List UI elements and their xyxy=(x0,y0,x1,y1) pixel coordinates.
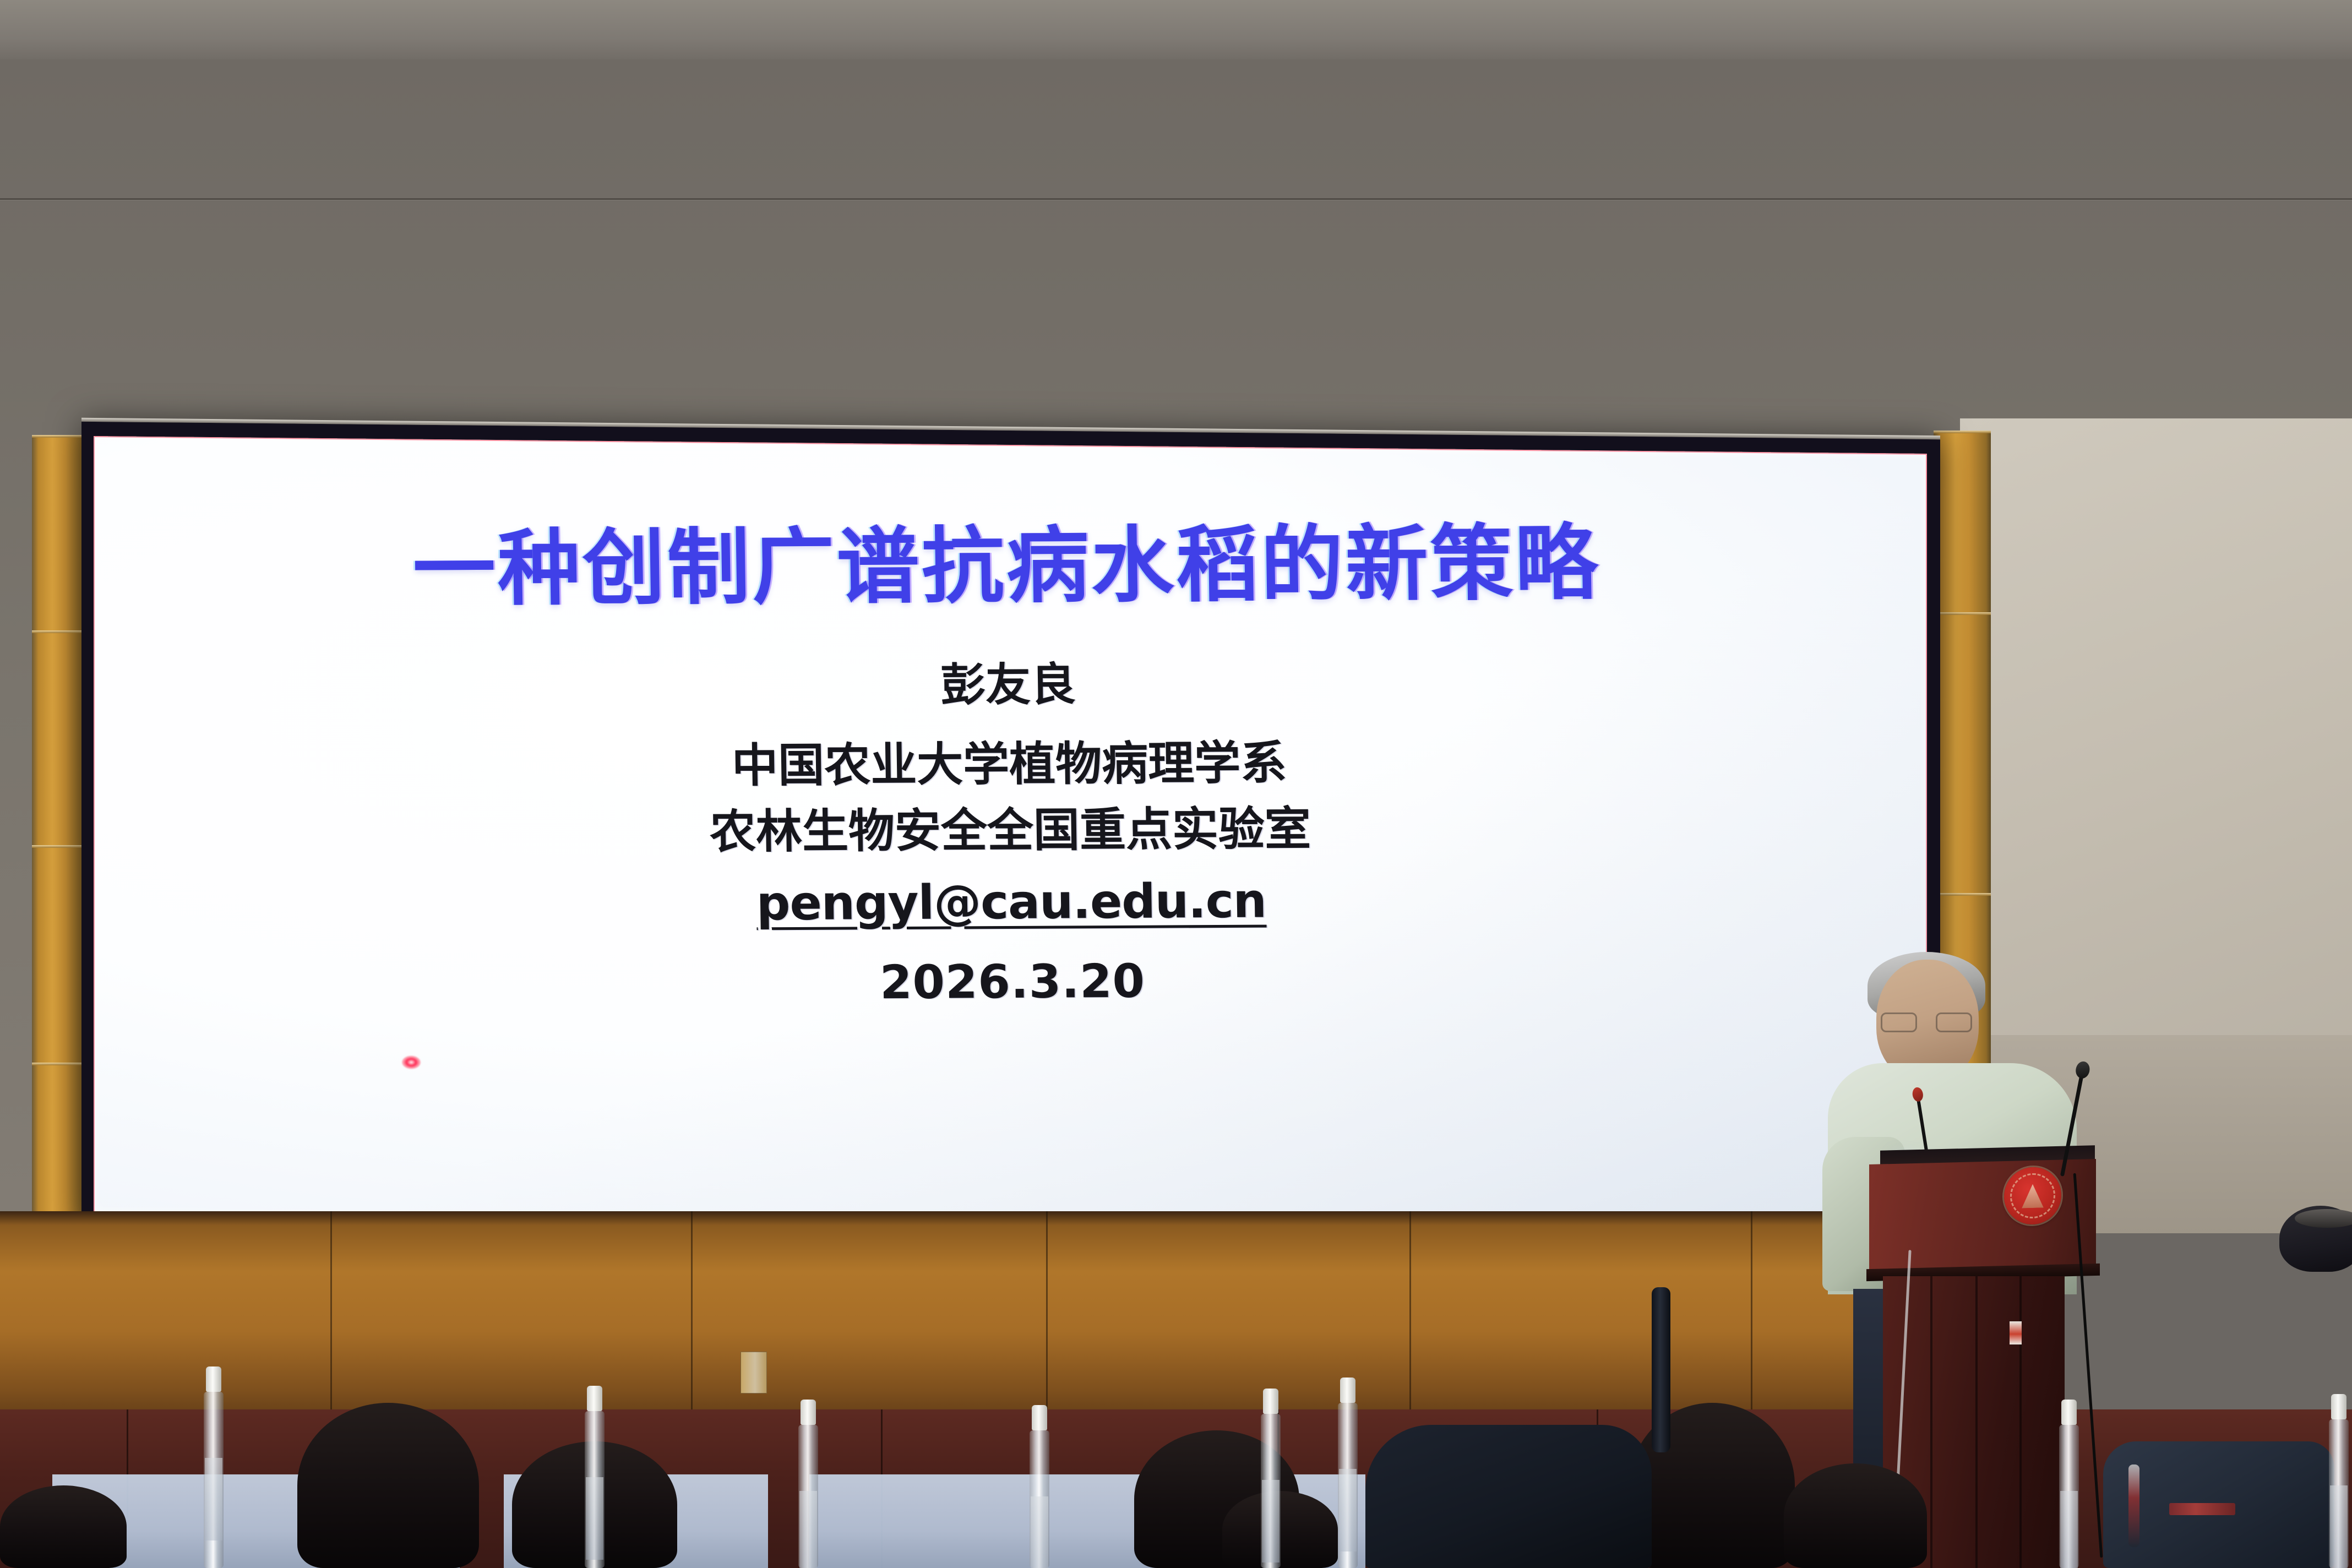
presentation-date: 2026.3.20 xyxy=(879,949,1146,1016)
audience-coat xyxy=(1365,1425,1652,1568)
slide-content: 一种创制广谱抗病水稻的新策略 彭友良 中国农业大学植物病理学系 农林生物安全全国… xyxy=(94,440,1927,1227)
slide-title: 一种创制广谱抗病水稻的新策略 xyxy=(412,520,1600,613)
affiliation-line-2: 农林生物安全全国重点实验室 xyxy=(709,796,1311,865)
audience-head xyxy=(0,1485,127,1568)
water-bottle[interactable] xyxy=(585,1411,605,1568)
water-bottle[interactable] xyxy=(798,1425,818,1568)
presenter-email: pengyl@cau.edu.cn xyxy=(756,868,1267,938)
presenter-name: 彭友良 xyxy=(940,653,1076,718)
laser-pointer-dot xyxy=(402,1055,421,1069)
wall-seam-line xyxy=(0,198,2352,200)
water-bottle[interactable] xyxy=(1030,1430,1049,1568)
decorative-bowl xyxy=(2279,1206,2352,1272)
backpack xyxy=(2103,1441,2334,1568)
projection-screen-frame: 一种创制广谱抗病水稻的新策略 彭友良 中国农业大学植物病理学系 农林生物安全全国… xyxy=(81,422,1940,1244)
water-bottle[interactable] xyxy=(1338,1403,1358,1568)
slide-subtitle-block: 彭友良 中国农业大学植物病理学系 农林生物安全全国重点实验室 pengyl@ca… xyxy=(707,652,1314,1016)
podium-front-panel xyxy=(1869,1159,2096,1275)
audience-head xyxy=(1784,1463,1927,1568)
gold-column-left xyxy=(32,435,86,1233)
projection-screen: 一种创制广谱抗病水稻的新策略 彭友良 中国农业大学植物病理学系 农林生物安全全国… xyxy=(94,436,1927,1231)
podium-sticker xyxy=(2010,1321,2022,1344)
lecture-hall-photo: 一种创制广谱抗病水稻的新策略 彭友良 中国农业大学植物病理学系 农林生物安全全国… xyxy=(0,0,2352,1568)
water-bottle[interactable] xyxy=(204,1392,224,1568)
ceiling xyxy=(0,0,2352,66)
eyeglasses-icon xyxy=(1881,1012,1978,1033)
water-bottle[interactable] xyxy=(1261,1414,1281,1568)
chair-post xyxy=(1652,1287,1670,1452)
affiliation-line-1: 中国农业大学植物病理学系 xyxy=(731,731,1287,799)
light-switch-plate[interactable] xyxy=(741,1352,767,1393)
water-bottle[interactable] xyxy=(2329,1419,2349,1568)
water-bottle[interactable] xyxy=(2059,1425,2079,1568)
audience-head xyxy=(297,1403,479,1568)
